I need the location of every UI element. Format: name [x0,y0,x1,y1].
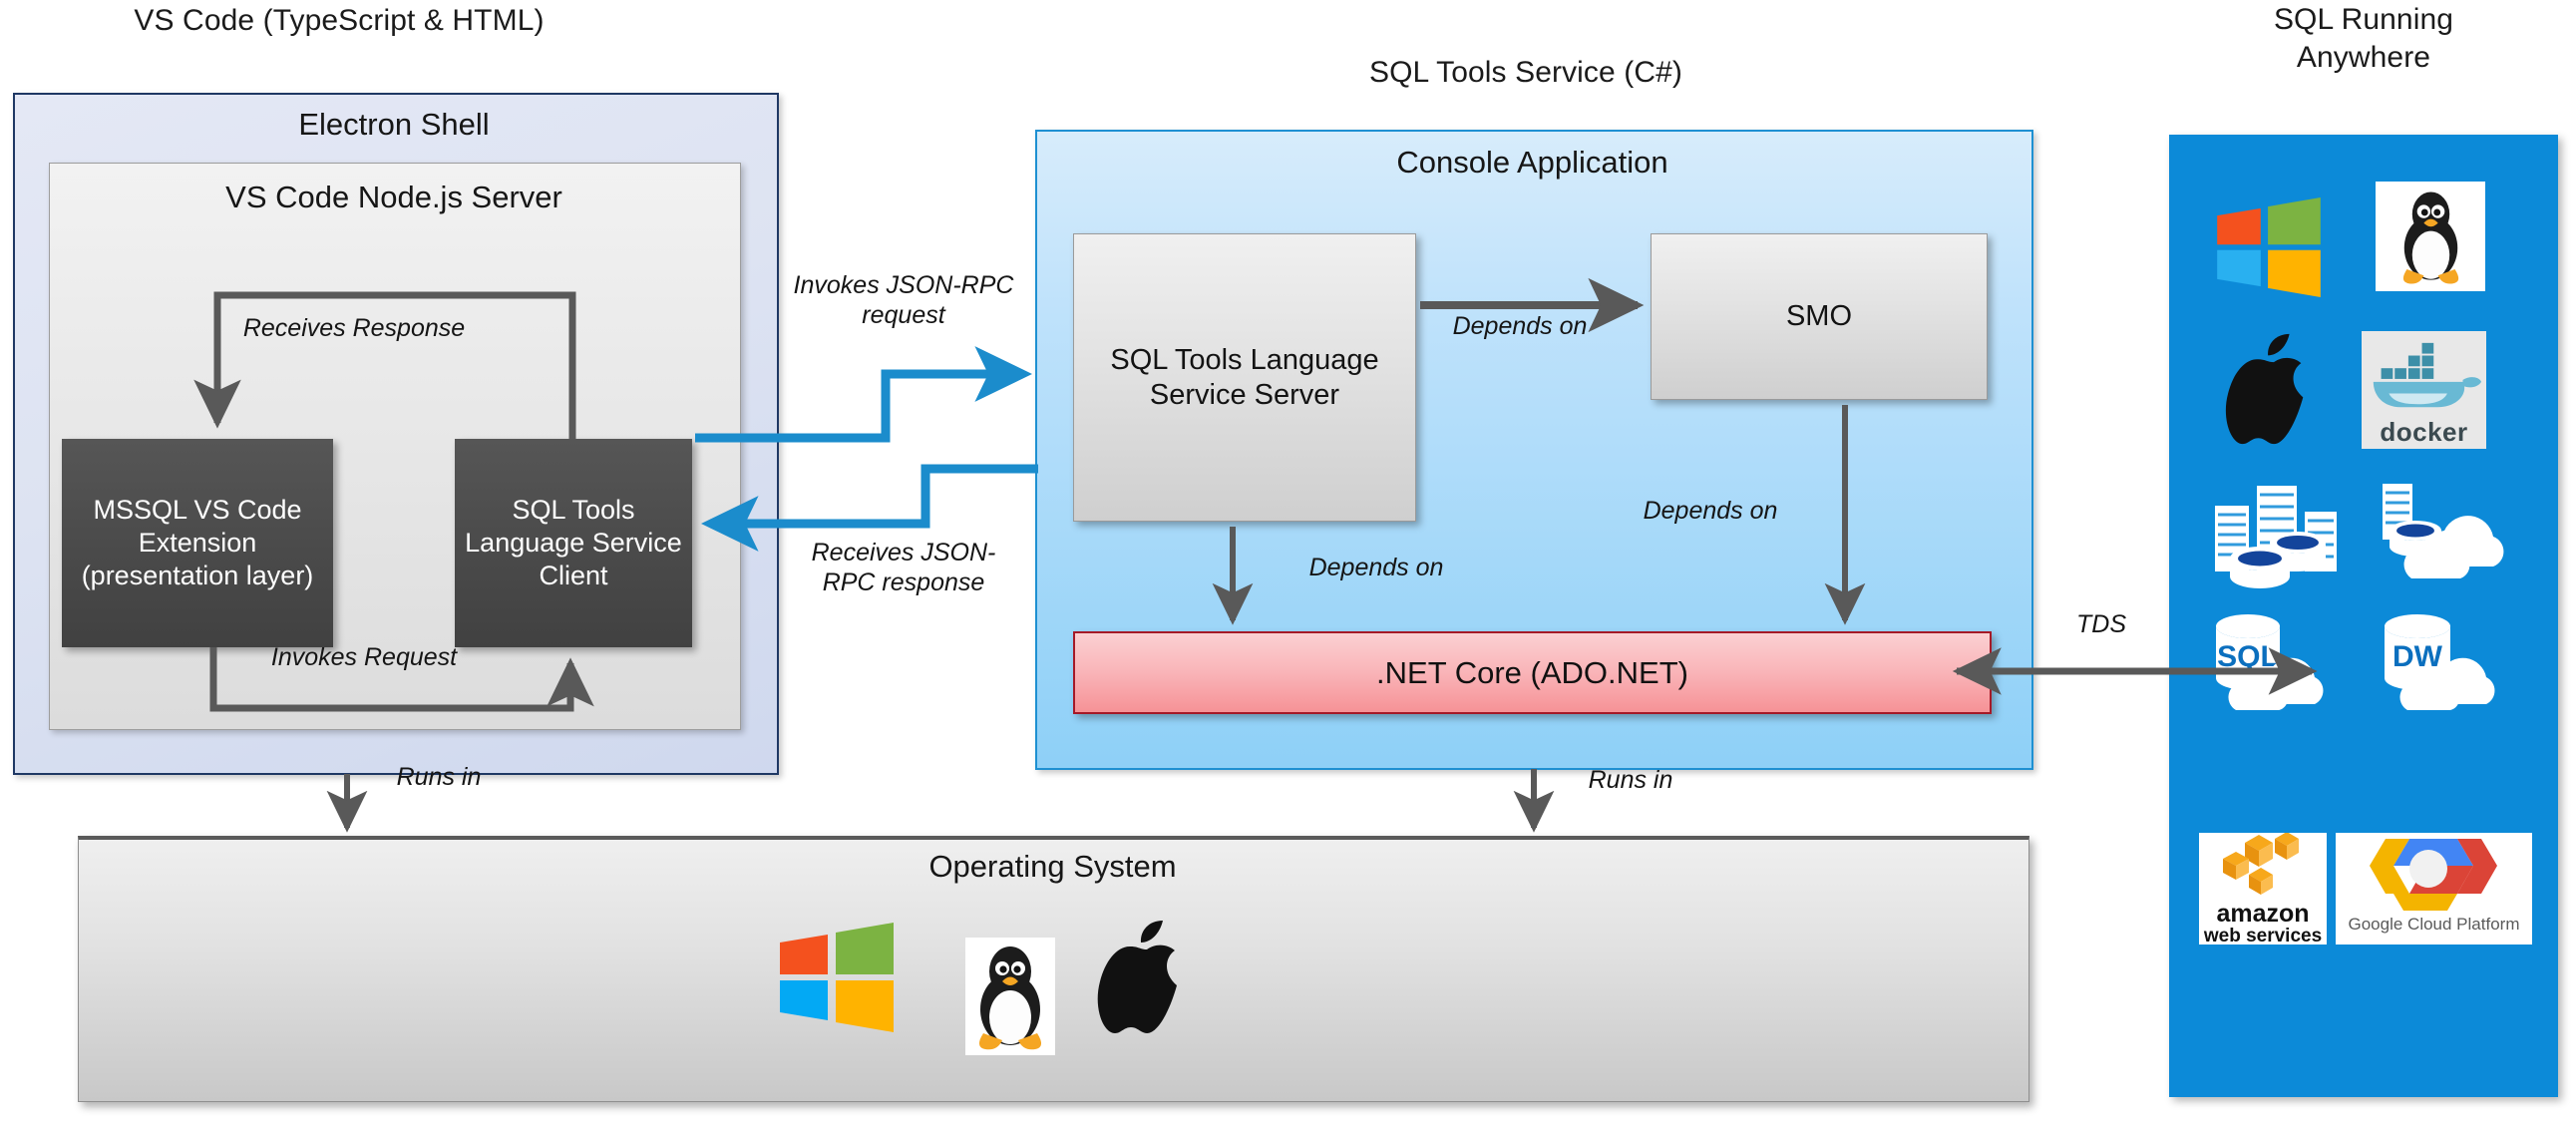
tds-label: TDS [2046,610,2156,646]
smo-box[interactable]: SMO [1651,233,1988,400]
netcore-adonet-box[interactable]: .NET Core (ADO.NET) [1073,631,1992,714]
windows-logo-icon [778,923,896,1032]
receives-jsonrpc-response-label: Receives JSON-RPC response [793,539,1014,608]
docker-whale-icon [2366,335,2482,417]
sql-tools-language-service-client-box[interactable]: SQL Tools Language Service Client [455,439,692,647]
depends-on-netcore-left-label: Depends on [1267,554,1486,587]
azure-sql-dw-icon: DW [2372,608,2521,713]
electron-shell-title: Electron Shell [13,102,775,148]
azure-vm-cloud-icon [2374,479,2523,586]
amazon-web-services-tile: amazon web services [2199,833,2327,945]
linux-tux-icon [969,942,1051,1051]
sql-tools-language-service-server-label: SQL Tools Language Service Server [1074,343,1415,413]
runs-in-middle-label: Runs in [1551,766,1710,802]
vscode-node-server-title: VS Code Node.js Server [49,175,739,220]
caption-sql-tools-service: SQL Tools Service (C#) [1027,54,2024,92]
mssql-vscode-extension-label: MSSQL VS Code Extension (presentation la… [68,494,327,592]
receives-response-label: Receives Response [199,314,509,348]
apple-logo-icon [1097,916,1197,1040]
invokes-jsonrpc-request-label: Invokes JSON-RPC request [793,271,1014,341]
azure-sql-database-label-hit [2204,608,2349,713]
aws-amazon-text: amazon [2199,902,2327,927]
azure-sql-dw-text: DW [2392,640,2443,673]
depends-on-smo-text: Depends on [1453,312,1588,340]
runs-in-left-label: Runs in [359,763,519,799]
netcore-adonet-label: .NET Core (ADO.NET) [1376,655,1688,691]
aws-cubes-icon [2199,833,2327,899]
caption-sql-running-anywhere-line1: SQL Running [2169,0,2558,40]
sql-tools-language-service-server-box[interactable]: SQL Tools Language Service Server [1073,233,1416,522]
caption-vscode: VS Code (TypeScript & HTML) [20,2,658,40]
windows-logo-icon [2214,197,2324,297]
smo-label: SMO [1786,299,1852,334]
console-application-title: Console Application [1035,140,2029,186]
google-cloud-platform-tile: Google Cloud Platform [2336,833,2532,945]
gcp-text: Google Cloud Platform [2336,916,2532,933]
apple-logo-icon [2224,329,2324,451]
depends-on-smo-label: Depends on [1432,312,1608,382]
depends-on-netcore-right-label: Depends on [1596,497,1825,531]
mssql-vscode-extension-box[interactable]: MSSQL VS Code Extension (presentation la… [62,439,333,647]
operating-system-title: Operating System [78,843,2027,891]
aws-webservices-text: web services [2199,927,2327,945]
sql-tools-language-service-client-label: SQL Tools Language Service Client [461,494,686,592]
docker-label: docker [2362,417,2486,447]
invokes-request-label: Invokes Request [214,643,514,677]
linux-tux-icon [2384,188,2478,285]
caption-sql-running-anywhere-line2: Anywhere [2169,38,2558,78]
on-premises-servers-icon [2206,477,2348,588]
gcp-hexagon-icon [2336,833,2532,911]
